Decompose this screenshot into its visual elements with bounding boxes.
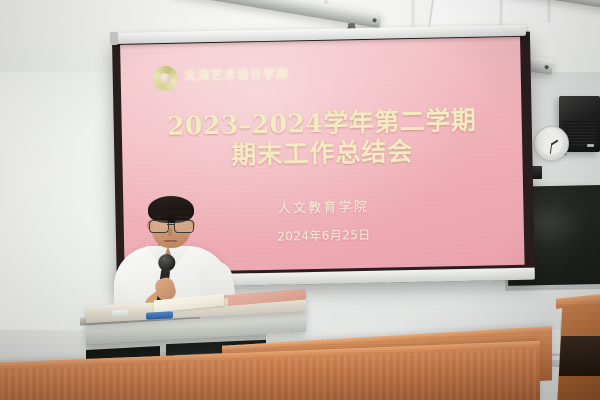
clip: [112, 310, 128, 318]
institution-name-en: BEIHAI COLLEGE OF ART AND DESIGN: [185, 82, 290, 88]
institution-name-cn: 北海艺术设计学院: [185, 65, 290, 83]
classroom-photo: 北海艺术设计学院 BEIHAI COLLEGE OF ART AND DESIG…: [0, 0, 600, 400]
light-hanger: [548, 0, 550, 22]
slide-logo: 北海艺术设计学院 BEIHAI COLLEGE OF ART AND DESIG…: [153, 63, 290, 91]
desk-shadow: [559, 336, 600, 376]
presenter-nose: [168, 228, 172, 236]
marker: [146, 311, 173, 319]
wall-clock-icon: [534, 126, 569, 161]
slide-title: 2023–2024学年第二学期 期末工作总结会: [121, 105, 522, 173]
presenter-hair: [148, 196, 194, 223]
swirl-emblem-icon: [153, 66, 178, 91]
